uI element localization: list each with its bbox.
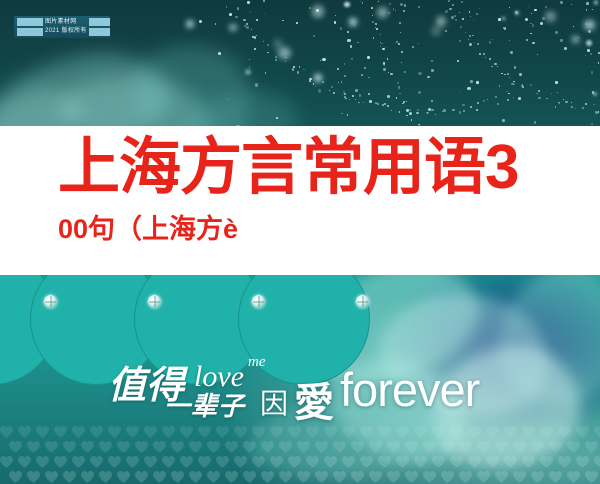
bokeh-dot xyxy=(349,18,357,26)
script-yin: 因 xyxy=(260,382,288,422)
bokeh-dot xyxy=(461,1,463,3)
bokeh-dot xyxy=(320,60,322,62)
bokeh-dot xyxy=(504,74,506,76)
bokeh-dot xyxy=(555,106,557,108)
bokeh-dot xyxy=(588,30,591,33)
bokeh-dot xyxy=(352,95,354,97)
bokeh-dot xyxy=(383,62,386,65)
bokeh-dot xyxy=(540,22,543,25)
bokeh-dot xyxy=(501,16,506,21)
bokeh-dot xyxy=(341,113,343,115)
bokeh-dot xyxy=(467,87,470,90)
bokeh-dot xyxy=(485,57,486,58)
bokeh-dot xyxy=(387,95,390,98)
bokeh-dot xyxy=(335,15,336,16)
bokeh-dot xyxy=(457,60,459,62)
bokeh-dot xyxy=(477,43,479,45)
bokeh-dot xyxy=(347,114,349,116)
bokeh-dot xyxy=(360,1,361,2)
bokeh-dot xyxy=(460,26,462,28)
page-title-line2: 00句（上海方è xyxy=(58,212,600,246)
bokeh-dot xyxy=(530,33,532,35)
bokeh-dot xyxy=(263,41,264,42)
bokeh-dot xyxy=(507,99,509,101)
bokeh-dot xyxy=(469,11,471,13)
bokeh-dot xyxy=(501,73,503,75)
bokeh-dot xyxy=(459,111,461,113)
bokeh-dot xyxy=(477,102,479,104)
bokeh-dot xyxy=(513,97,514,98)
bokeh-dot xyxy=(585,55,586,56)
bokeh-dot xyxy=(571,4,572,5)
bokeh-dot xyxy=(381,43,382,44)
bokeh-dot xyxy=(593,104,594,105)
bokeh-dot xyxy=(591,71,594,74)
bokeh-dot xyxy=(406,109,408,111)
bokeh-dot xyxy=(402,103,403,104)
bokeh-dot xyxy=(491,39,492,40)
bokeh-dot xyxy=(591,123,594,126)
bokeh-dot xyxy=(587,49,590,52)
bokeh-dot xyxy=(406,115,408,117)
bokeh-dot xyxy=(462,104,465,107)
bokeh-dot xyxy=(246,26,249,29)
bokeh-dot xyxy=(585,103,587,105)
bokeh-dot xyxy=(400,32,401,33)
bokeh-dot xyxy=(226,6,228,8)
bokeh-dot xyxy=(546,98,548,100)
bokeh-dot xyxy=(573,26,574,27)
bokeh-dot xyxy=(361,74,363,76)
bokeh-dot xyxy=(282,20,283,21)
bokeh-dot xyxy=(377,103,379,105)
bokeh-dot xyxy=(465,32,466,33)
bokeh-dot xyxy=(397,82,400,85)
bokeh-dot xyxy=(229,13,232,16)
bokeh-dot xyxy=(358,102,360,104)
bokeh-dot xyxy=(542,17,545,20)
gem-ornament xyxy=(356,295,369,308)
bokeh-dot xyxy=(380,42,381,43)
bokeh-dot xyxy=(400,3,403,6)
bokeh-dot xyxy=(525,18,528,21)
banner-image: 图片素材网 2021 版权所有 上海方言常用语3 00句（上海方è 值得 lov… xyxy=(0,0,600,484)
bokeh-dot xyxy=(396,97,397,98)
bokeh-dot xyxy=(538,97,540,99)
bokeh-dot xyxy=(229,24,237,32)
bokeh-dot xyxy=(445,30,447,32)
bokeh-dot xyxy=(586,9,587,10)
bokeh-dot xyxy=(395,10,397,12)
bokeh-dot xyxy=(487,99,488,100)
bokeh-dot xyxy=(495,96,498,99)
bokeh-dot xyxy=(530,84,533,87)
bokeh-dot xyxy=(513,81,515,83)
bokeh-dot xyxy=(555,81,558,84)
script-yibeizi: 一辈子 xyxy=(164,386,245,423)
bokeh-dot xyxy=(303,69,304,70)
bokeh-dot xyxy=(534,9,537,12)
bokeh-dot xyxy=(427,76,430,79)
bokeh-dot xyxy=(470,80,473,83)
bokeh-dot xyxy=(502,119,505,122)
bokeh-dot xyxy=(362,102,363,103)
bokeh-dot xyxy=(431,69,434,72)
gem-ornament xyxy=(252,295,265,308)
bokeh-dot xyxy=(494,63,497,66)
bokeh-dot xyxy=(431,109,434,112)
bokeh-dot xyxy=(403,101,405,103)
bokeh-dot xyxy=(511,83,512,84)
page-title-line1: 上海方言常用语3 xyxy=(58,132,600,204)
bokeh-dot xyxy=(483,53,485,55)
bokeh-dot xyxy=(406,101,407,102)
bokeh-dot xyxy=(243,19,246,22)
bokeh-dot xyxy=(275,59,277,61)
bokeh-dot xyxy=(504,27,506,29)
bokeh-dot xyxy=(448,0,450,2)
watermark-line2: 2021 版权所有 xyxy=(45,28,87,35)
bokeh-dot xyxy=(344,63,345,64)
bokeh-dot xyxy=(245,69,251,75)
bokeh-dot xyxy=(377,7,389,19)
bokeh-dot xyxy=(384,103,386,105)
bokeh-dot xyxy=(449,8,451,10)
bokeh-dot xyxy=(357,42,359,44)
bokeh-dot xyxy=(251,29,252,30)
bokeh-dot xyxy=(418,43,419,44)
bokeh-dot xyxy=(491,66,493,68)
gem-ornament xyxy=(44,295,57,308)
bokeh-dot xyxy=(350,45,353,48)
bokeh-dot xyxy=(598,111,600,113)
bokeh-dot xyxy=(359,94,362,97)
bokeh-dot xyxy=(445,10,448,13)
bokeh-dot xyxy=(345,98,347,100)
bokeh-dot xyxy=(404,71,406,73)
bokeh-dot xyxy=(380,46,381,47)
bokeh-dot xyxy=(380,34,381,35)
bokeh-dot xyxy=(399,22,401,24)
bokeh-dot xyxy=(255,83,258,86)
bokeh-dot xyxy=(508,93,509,94)
bokeh-dot xyxy=(399,93,401,95)
bokeh-dot xyxy=(401,62,402,63)
bokeh-dot xyxy=(237,9,238,10)
bokeh-dot xyxy=(418,72,421,75)
bokeh-dot xyxy=(249,59,250,60)
bokeh-dot xyxy=(249,66,250,67)
bokeh-dot xyxy=(312,5,325,18)
bokeh-dot xyxy=(341,81,342,82)
bokeh-dot xyxy=(313,35,315,37)
bokeh-dot xyxy=(590,53,591,54)
bokeh-dot xyxy=(235,16,238,19)
bokeh-dot xyxy=(593,92,597,96)
script-ai: 愛 xyxy=(294,370,334,428)
bokeh-dot xyxy=(528,6,529,7)
bokeh-dot xyxy=(459,40,461,42)
gem-ornament xyxy=(148,295,161,308)
bokeh-dot xyxy=(497,66,498,67)
bokeh-dot xyxy=(479,53,481,55)
bokeh-dot xyxy=(584,20,595,31)
bokeh-dot xyxy=(578,37,579,38)
bokeh-dot xyxy=(285,57,286,58)
bokeh-dot xyxy=(244,25,246,27)
bokeh-dot xyxy=(431,26,441,36)
bokeh-dot xyxy=(582,107,585,110)
bokeh-dot xyxy=(489,41,491,43)
bokeh-dot xyxy=(459,12,461,14)
bokeh-dot xyxy=(362,2,364,4)
bokeh-dot xyxy=(383,68,386,71)
bokeh-dot xyxy=(409,109,411,111)
bokeh-dot xyxy=(468,39,469,40)
bokeh-dot xyxy=(267,52,268,53)
bokeh-dot xyxy=(418,91,421,94)
bokeh-dot xyxy=(315,86,316,87)
bokeh-dot xyxy=(364,67,366,69)
script-me: me xyxy=(248,354,266,371)
bokeh-dot xyxy=(382,104,384,106)
bokeh-dot xyxy=(431,60,433,62)
bokeh-dot xyxy=(296,22,298,24)
bokeh-dot xyxy=(474,42,476,44)
bokeh-dot xyxy=(344,2,349,7)
bokeh-dot xyxy=(509,77,510,78)
bokeh-dot xyxy=(455,19,457,21)
bokeh-dot xyxy=(276,117,278,119)
bokeh-dot xyxy=(390,73,392,75)
site-watermark-badge: 图片素材网 2021 版权所有 xyxy=(14,16,110,38)
bokeh-dot xyxy=(598,62,600,64)
bokeh-dot xyxy=(331,86,333,88)
bokeh-dot xyxy=(472,35,474,37)
bokeh-dot xyxy=(463,110,465,112)
bokeh-dot xyxy=(347,39,350,42)
bokeh-dot xyxy=(538,90,540,92)
bokeh-dot xyxy=(333,92,335,94)
bokeh-dot xyxy=(309,78,312,81)
bokeh-dot xyxy=(499,85,500,86)
bokeh-dot xyxy=(443,109,446,112)
bokeh-dot xyxy=(473,19,474,20)
bokeh-dot xyxy=(557,92,558,93)
bokeh-dot xyxy=(264,13,265,14)
bokeh-dot xyxy=(372,21,374,23)
bokeh-dot xyxy=(398,86,401,89)
bokeh-dot xyxy=(515,11,518,14)
bokeh-dot xyxy=(545,6,547,8)
bokeh-dot xyxy=(416,112,419,115)
bokeh-dot xyxy=(522,86,524,88)
bokeh-dot xyxy=(382,48,385,51)
bokeh-dot xyxy=(329,90,330,91)
bokeh-dot xyxy=(594,0,599,5)
bokeh-dot xyxy=(586,2,589,5)
bokeh-dot xyxy=(563,99,565,101)
bokeh-dot xyxy=(376,28,378,30)
bokeh-dot xyxy=(254,48,256,50)
bokeh-dot xyxy=(378,1,379,2)
bokeh-dot xyxy=(565,101,568,104)
bokeh-dot xyxy=(417,109,419,111)
bokeh-dot xyxy=(476,109,478,111)
bokeh-dot xyxy=(497,103,499,105)
bokeh-dot xyxy=(347,31,349,33)
bokeh-dot xyxy=(536,93,538,95)
bokeh-dot xyxy=(409,112,412,115)
bokeh-dot xyxy=(344,93,347,96)
bokeh-dot xyxy=(368,93,369,94)
bokeh-dot xyxy=(314,74,322,82)
bokeh-dot xyxy=(364,102,365,103)
bokeh-dot xyxy=(275,56,277,58)
bokeh-dot xyxy=(412,46,414,48)
bokeh-dot xyxy=(462,18,465,21)
bokeh-dot xyxy=(398,43,400,45)
script-forever: forever xyxy=(340,362,479,417)
bokeh-dot xyxy=(322,81,324,83)
bokeh-dot xyxy=(470,106,472,108)
bokeh-dot xyxy=(218,52,221,55)
bokeh-dot xyxy=(560,1,563,4)
bokeh-dot xyxy=(399,111,401,113)
bokeh-dot xyxy=(322,58,325,61)
bokeh-dot xyxy=(532,24,534,26)
watermark-line1: 图片素材网 xyxy=(45,19,87,26)
bokeh-dot xyxy=(250,12,251,13)
bokeh-dot xyxy=(510,51,513,54)
bokeh-dot xyxy=(454,15,456,17)
bokeh-dot xyxy=(518,97,521,100)
bokeh-dot xyxy=(351,58,353,60)
bokeh-dot xyxy=(247,1,250,4)
bokeh-dot xyxy=(387,58,389,60)
bokeh-dot xyxy=(479,8,481,10)
bokeh-dot xyxy=(389,3,391,5)
bokeh-dot xyxy=(575,108,576,109)
bokeh-dot xyxy=(509,40,511,42)
bokeh-dot xyxy=(555,31,558,34)
bokeh-dot xyxy=(344,75,346,77)
bokeh-dot xyxy=(293,66,295,68)
bokeh-dot xyxy=(514,66,517,69)
bokeh-dot xyxy=(460,91,461,92)
bokeh-dot xyxy=(436,16,447,27)
bokeh-dot xyxy=(313,83,314,84)
bokeh-dot xyxy=(309,80,311,82)
bokeh-dot xyxy=(318,89,321,92)
bokeh-dot xyxy=(469,35,471,37)
bokeh-dot xyxy=(452,109,455,112)
bokeh-dot xyxy=(273,39,283,49)
bokeh-dot xyxy=(586,40,592,46)
bokeh-dot xyxy=(338,82,339,83)
bokeh-dot xyxy=(263,0,265,2)
bokeh-dot xyxy=(186,20,194,28)
bokeh-dot xyxy=(375,23,377,25)
bokeh-dot xyxy=(442,111,443,112)
bokeh-dot xyxy=(595,111,598,114)
bokeh-dot xyxy=(349,99,350,100)
bokeh-dot xyxy=(337,68,339,70)
bokeh-dot xyxy=(387,105,389,107)
bokeh-dot xyxy=(391,110,392,111)
bokeh-dot xyxy=(384,65,385,66)
bokeh-dot xyxy=(292,68,295,71)
bokeh-dot xyxy=(309,7,311,9)
bokeh-dot xyxy=(355,89,358,92)
bokeh-dot xyxy=(519,73,522,76)
bokeh-dot xyxy=(483,100,486,103)
bokeh-dot xyxy=(371,7,373,9)
bokeh-dot xyxy=(476,81,479,84)
bokeh-dot xyxy=(571,106,573,108)
bokeh-dot xyxy=(254,36,257,39)
bokeh-dot xyxy=(560,39,562,41)
bokeh-dot xyxy=(385,47,386,48)
bokeh-dot xyxy=(489,58,491,60)
bokeh-dot xyxy=(452,4,454,6)
bokeh-dot xyxy=(297,71,300,74)
bokeh-dot xyxy=(372,15,373,16)
bokeh-dot xyxy=(388,12,390,14)
bokeh-dot xyxy=(265,72,267,74)
bokeh-dot xyxy=(476,13,479,16)
bokeh-dot xyxy=(369,100,372,103)
bokeh-dot xyxy=(267,44,269,46)
bokeh-dot xyxy=(199,20,202,23)
bokeh-dot xyxy=(403,10,405,12)
bokeh-dot xyxy=(435,114,436,115)
bokeh-dot xyxy=(367,56,369,58)
bokeh-dot xyxy=(411,119,413,121)
bokeh-dot xyxy=(592,9,593,10)
bokeh-dot xyxy=(431,100,433,102)
bokeh-dot xyxy=(401,51,403,53)
bokeh-dot xyxy=(509,7,510,8)
bokeh-dot xyxy=(215,23,217,25)
bokeh-dot xyxy=(532,42,534,44)
bokeh-dot xyxy=(355,99,357,101)
bokeh-dot xyxy=(551,93,552,94)
bokeh-dot xyxy=(246,23,248,25)
bokeh-dot xyxy=(343,91,345,93)
bokeh-dot xyxy=(470,16,471,17)
bokeh-dot xyxy=(334,21,337,24)
bokeh-dot xyxy=(537,54,538,55)
bokeh-dot xyxy=(507,73,509,75)
decorative-script-text: 值得 love me 一辈子 因 愛 forever xyxy=(108,352,578,414)
bokeh-dot xyxy=(534,121,537,124)
bokeh-dot xyxy=(368,77,369,78)
bokeh-dot xyxy=(299,66,301,68)
bokeh-dot xyxy=(340,27,343,30)
bokeh-dot xyxy=(256,19,258,21)
bokeh-dot xyxy=(404,4,407,7)
bokeh-dot xyxy=(526,39,528,41)
bokeh-dot xyxy=(564,47,567,50)
bokeh-dot xyxy=(571,102,572,103)
bokeh-dot xyxy=(531,13,532,14)
bokeh-dot xyxy=(285,61,286,62)
bokeh-dot xyxy=(373,37,374,38)
bokeh-dot xyxy=(469,43,472,46)
title-overlay-band: 上海方言常用语3 00句（上海方è xyxy=(0,126,600,275)
bokeh-dot xyxy=(418,6,420,8)
